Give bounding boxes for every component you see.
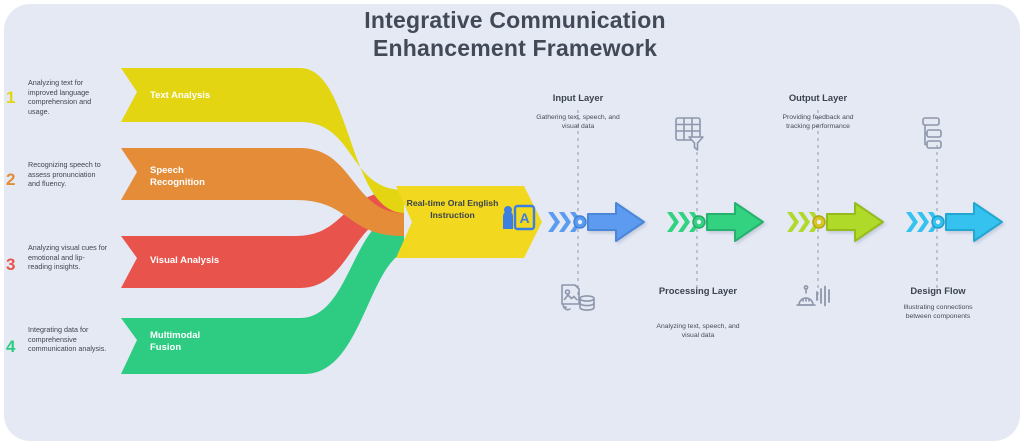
stage-subtitle-input-layer: Gathering text, speech, and visual data <box>536 113 620 131</box>
svg-text:A: A <box>519 210 529 226</box>
pipeline-segment-2 <box>667 203 763 241</box>
pipeline-segment-3 <box>787 203 883 241</box>
ribbon-speech-recognition <box>121 148 404 236</box>
input-description-1: Analyzing text for improved language com… <box>28 78 108 116</box>
stage-title-input-layer: Input Layer <box>528 92 628 104</box>
input-description-4: Integrating data for comprehensive commu… <box>28 325 108 354</box>
stage-subtitle-design-flow: Illustrating connections between compone… <box>900 303 976 321</box>
arrow-blue <box>588 203 644 241</box>
stage-title-processing-layer: Processing Layer <box>652 285 744 297</box>
stage-title-output-layer: Output Layer <box>768 92 868 104</box>
input-description-2: Recognizing speech to assess pronunciati… <box>28 160 108 189</box>
table-filter-icon <box>676 118 703 150</box>
image-sync-database-icon <box>562 285 594 310</box>
flow-ribbons: A <box>0 0 1024 445</box>
diagram-canvas: A <box>0 0 1024 445</box>
arrow-cyan <box>946 203 1002 241</box>
input-number-2: 2 <box>6 170 15 190</box>
band-label-speech-recognition: Speech Recognition <box>150 165 222 189</box>
stage-title-design-flow: Design Flow <box>890 285 986 297</box>
stage-subtitle-output-layer: Providing feedback and tracking performa… <box>776 113 860 131</box>
input-number-4: 4 <box>6 337 15 357</box>
hierarchy-nodes-icon <box>923 118 941 148</box>
arrow-green <box>707 203 763 241</box>
band-label-visual-analysis: Visual Analysis <box>150 255 240 267</box>
presenter-board-icon: A <box>503 206 534 229</box>
robot-voice-icon <box>797 286 829 306</box>
input-description-3: Analyzing visual cues for emotional and … <box>28 243 108 272</box>
input-number-1: 1 <box>6 88 15 108</box>
band-label-text-analysis: Text Analysis <box>150 90 240 102</box>
stage-subtitle-processing-layer: Analyzing text, speech, and visual data <box>652 322 744 340</box>
merge-node-label: Real-time Oral English Instruction <box>405 198 500 221</box>
arrow-lime <box>827 203 883 241</box>
pipeline-segment-1 <box>548 203 644 241</box>
input-number-3: 3 <box>6 255 15 275</box>
band-label-multimodal-fusion: Multimodal Fusion <box>150 330 220 354</box>
page-title: Integrative Communication Enhancement Fr… <box>290 6 740 62</box>
pipeline-segment-4 <box>906 203 1002 241</box>
